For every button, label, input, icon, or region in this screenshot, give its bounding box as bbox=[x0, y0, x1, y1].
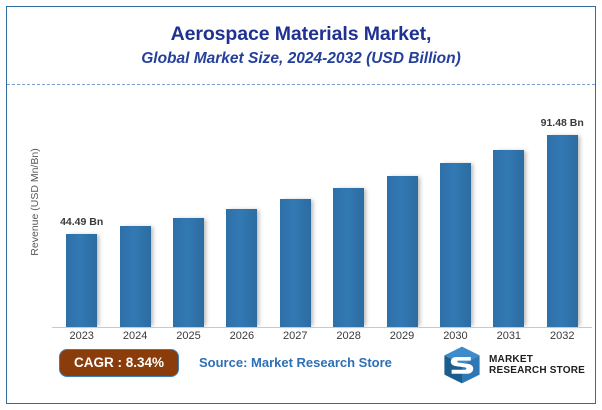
x-tick-2029: 2029 bbox=[375, 330, 428, 342]
bar-slot bbox=[322, 91, 375, 327]
bar-2028[interactable] bbox=[333, 188, 364, 327]
bar-2032[interactable] bbox=[547, 135, 578, 327]
brand-logo-line1: MARKET bbox=[489, 354, 585, 366]
page-subtitle: Global Market Size, 2024-2032 (USD Billi… bbox=[7, 47, 595, 71]
header-divider bbox=[7, 84, 595, 85]
bar-slot bbox=[108, 91, 161, 327]
x-tick-2024: 2024 bbox=[108, 330, 161, 342]
chart-frame: Aerospace Materials Market, Global Marke… bbox=[6, 6, 596, 404]
bar-slot bbox=[215, 91, 268, 327]
brand-logo: MARKET RESEARCH STORE bbox=[442, 345, 585, 385]
x-tick-2023: 2023 bbox=[55, 330, 108, 342]
x-tick-2026: 2026 bbox=[215, 330, 268, 342]
brand-logo-text: MARKET RESEARCH STORE bbox=[489, 354, 585, 377]
source-label: Source: Market Research Store bbox=[199, 355, 392, 370]
bar-slot: 44.49 Bn bbox=[55, 91, 108, 327]
bar-2024[interactable] bbox=[120, 226, 151, 327]
cagr-badge: CAGR : 8.34% bbox=[59, 349, 179, 377]
chart-header: Aerospace Materials Market, Global Marke… bbox=[7, 21, 595, 71]
x-tick-2028: 2028 bbox=[322, 330, 375, 342]
bar-slot bbox=[482, 91, 535, 327]
chart-footer: CAGR : 8.34% Source: Market Research Sto… bbox=[7, 345, 595, 393]
x-tick-2031: 2031 bbox=[482, 330, 535, 342]
bar-2030[interactable] bbox=[440, 163, 471, 327]
y-axis-title: Revenue (USD Mn/Bn) bbox=[29, 132, 41, 272]
x-axis-tick-labels: 2023202420252026202720282029203020312032 bbox=[55, 330, 589, 342]
bar-2031[interactable] bbox=[493, 150, 524, 327]
bar-slot bbox=[375, 91, 428, 327]
bar-2023[interactable] bbox=[66, 234, 97, 327]
bar-slot bbox=[162, 91, 215, 327]
bar-2029[interactable] bbox=[387, 176, 418, 327]
x-tick-2025: 2025 bbox=[162, 330, 215, 342]
bar-2027[interactable] bbox=[280, 199, 311, 327]
page-title: Aerospace Materials Market, bbox=[7, 21, 595, 47]
brand-logo-line2: RESEARCH STORE bbox=[489, 365, 585, 377]
cube-s-logo-icon bbox=[442, 345, 482, 385]
bar-value-label: 91.48 Bn bbox=[541, 117, 584, 129]
x-tick-2027: 2027 bbox=[269, 330, 322, 342]
plot-area: Revenue (USD Mn/Bn) 44.49 Bn91.48 Bn 202… bbox=[7, 91, 595, 341]
x-axis-line bbox=[52, 327, 592, 328]
bar-2025[interactable] bbox=[173, 218, 204, 327]
bar-value-label: 44.49 Bn bbox=[60, 216, 103, 228]
bar-2026[interactable] bbox=[226, 209, 257, 327]
x-tick-2032: 2032 bbox=[536, 330, 589, 342]
bar-series: 44.49 Bn91.48 Bn bbox=[55, 91, 589, 327]
bar-slot: 91.48 Bn bbox=[536, 91, 589, 327]
x-tick-2030: 2030 bbox=[429, 330, 482, 342]
bar-slot bbox=[429, 91, 482, 327]
bar-slot bbox=[269, 91, 322, 327]
